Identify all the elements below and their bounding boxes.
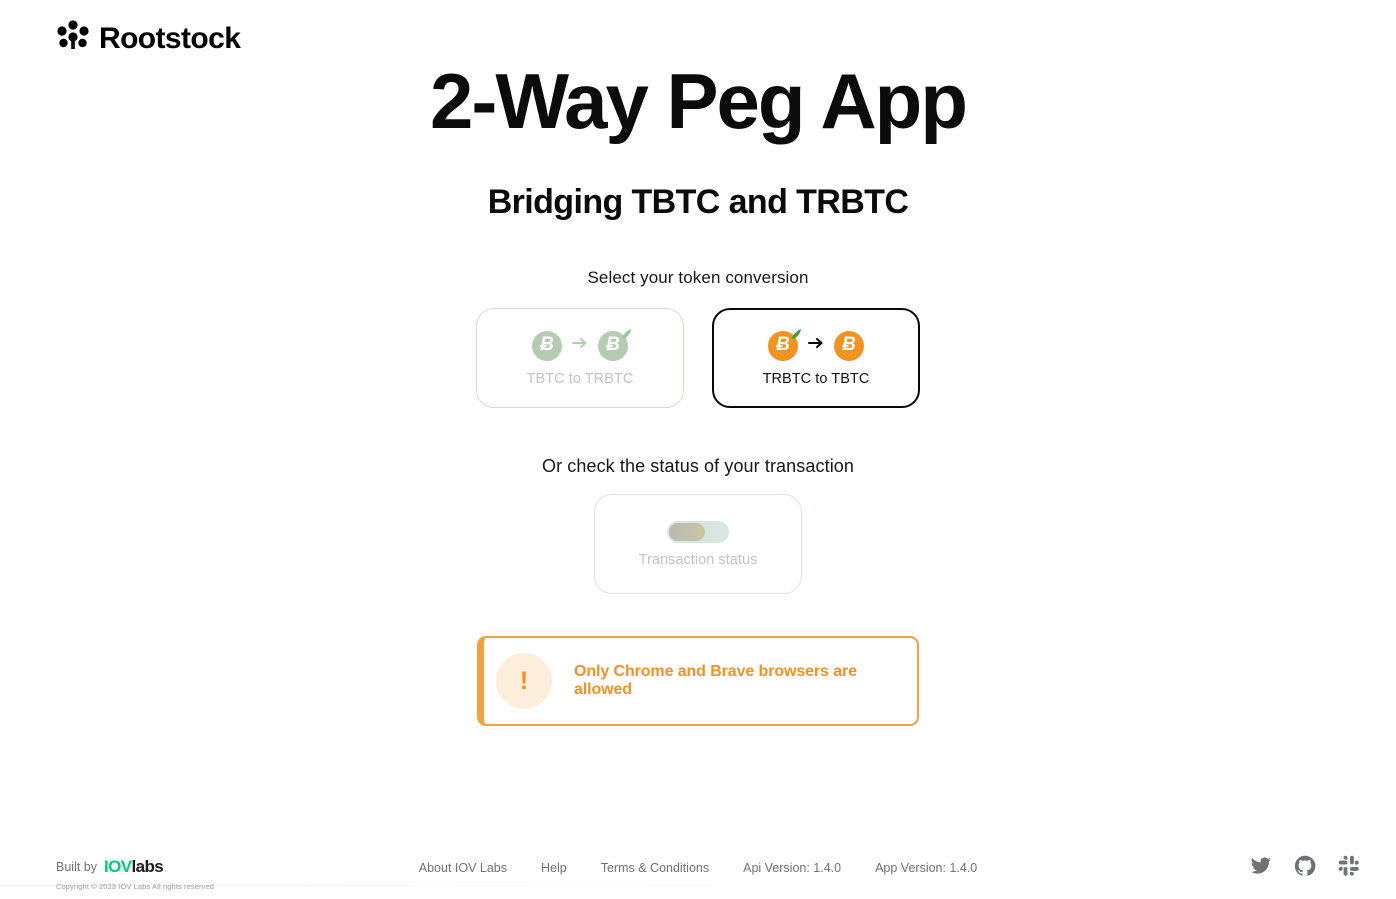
coin-pair: Ƀ Ƀ [768,330,864,362]
github-icon[interactable] [1294,855,1316,877]
coin-pair: Ƀ Ƀ [532,330,628,362]
twitter-icon[interactable] [1250,855,1272,877]
transaction-status-card: Transaction status [594,494,802,594]
main-content: 2-Way Peg App Bridging TBTC and TRBTC Se… [0,0,1396,726]
footer-links: About IOV Labs Help Terms & Conditions A… [0,861,1396,875]
leaf-icon [790,328,802,340]
leaf-icon [620,328,632,340]
footer-link-help[interactable]: Help [541,861,567,875]
footer-link-terms-and-conditions[interactable]: Terms & Conditions [601,861,709,875]
footer-app-version: App Version: 1.4.0 [875,861,977,875]
check-status-label: Or check the status of your transaction [0,456,1396,477]
tbtc-coin-icon: Ƀ [532,331,562,361]
tbtc-coin-icon: Ƀ [834,331,864,361]
conversion-card-label: TRBTC to TBTC [763,371,870,387]
footer-link-about-iov-labs[interactable]: About IOV Labs [419,861,507,875]
slack-icon[interactable] [1338,855,1360,877]
transaction-status-label: Transaction status [639,552,758,568]
conversion-card-tbtc-to-trbtc: Ƀ Ƀ TBTC to TRBTC [476,308,684,408]
conversion-card-label: TBTC to TRBTC [527,371,634,387]
copyright-text: Copyright © 2023 IOV Labs All rights res… [56,882,214,891]
footer-api-version: Api Version: 1.4.0 [743,861,841,875]
arrow-right-icon [807,335,825,356]
browser-warning-banner: ! Only Chrome and Brave browsers are all… [477,636,919,726]
trbtc-coin-icon: Ƀ [768,331,798,361]
social-links [1250,855,1360,877]
search-pill-icon [667,521,729,543]
trbtc-coin-icon: Ƀ [598,331,628,361]
page-title: 2-Way Peg App [0,62,1396,140]
status-card-row: Transaction status [0,494,1396,594]
arrow-right-icon [571,335,589,356]
exclamation-icon: ! [496,653,552,709]
conversion-card-trbtc-to-tbtc[interactable]: Ƀ Ƀ TRBTC to TBTC [712,308,920,408]
page-footer: Built by IOVlabs Copyright © 2023 IOV La… [0,837,1396,899]
conversion-card-row: Ƀ Ƀ TBTC to TRBTC Ƀ [0,308,1396,408]
warning-message: Only Chrome and Brave browsers are allow… [574,663,917,699]
warning-row: ! Only Chrome and Brave browsers are all… [0,636,1396,726]
select-conversion-label: Select your token conversion [0,268,1396,288]
page-subtitle: Bridging TBTC and TRBTC [0,183,1396,222]
